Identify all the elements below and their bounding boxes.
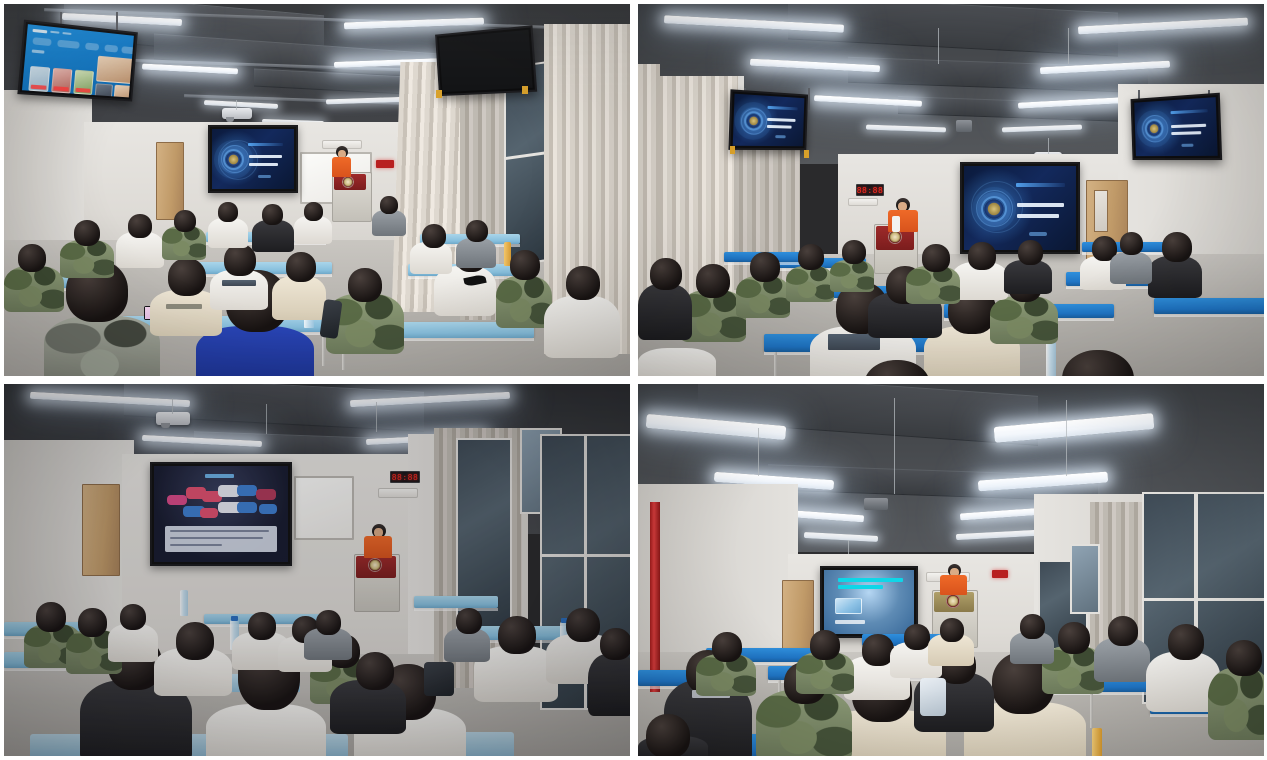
audience-head — [456, 608, 482, 634]
audience-head — [696, 264, 730, 298]
audience-head — [422, 224, 446, 248]
audience-head — [750, 252, 780, 282]
audience-member — [638, 348, 716, 376]
photo-panel-top-left[interactable]: Lecture hall, students seated at pale-bl… — [4, 4, 630, 376]
led-clock-text: 88:88 — [392, 473, 419, 482]
audience-head — [922, 244, 950, 272]
led-clock-text: 88:88 — [857, 186, 884, 195]
audience-member — [1004, 260, 1052, 294]
photo-panel-bottom-right[interactable]: Wide lecture hall with blue desks and wi… — [638, 384, 1264, 756]
photo-collage: Lecture hall, students seated at pale-bl… — [0, 0, 1267, 760]
presenter-vest — [332, 157, 351, 177]
tv-screen — [439, 30, 533, 92]
tv-feature-card[interactable] — [96, 56, 134, 84]
projection-screen — [208, 125, 298, 193]
audience-head — [1058, 622, 1090, 654]
door-window — [1094, 190, 1108, 232]
classroom-scene-2: 88:88 — [638, 4, 1264, 376]
light-wire — [376, 402, 377, 432]
audience-head — [510, 250, 540, 280]
water-bottle — [180, 590, 188, 616]
light-wire — [1066, 400, 1067, 476]
photo-panel-top-right[interactable]: 88:88 — [638, 4, 1264, 376]
tv-slide-line — [767, 118, 796, 122]
projection-screen — [150, 462, 292, 566]
side-tv-left[interactable] — [728, 89, 808, 150]
shirt-print — [166, 304, 202, 309]
audience-head — [1020, 614, 1045, 639]
audience-head — [566, 266, 600, 300]
audience-head — [348, 268, 382, 302]
student-desk — [414, 596, 498, 608]
student-desk — [1154, 298, 1264, 314]
presenter-vest — [364, 536, 392, 558]
podium-emblem-icon — [946, 594, 960, 608]
slide-text-line — [249, 155, 282, 158]
podium-emblem-icon — [342, 176, 354, 188]
caption-line — [170, 544, 222, 546]
tv-ui-tab[interactable] — [32, 37, 51, 46]
audience-head — [262, 204, 283, 225]
light-wire — [758, 428, 759, 476]
projector-wire — [236, 100, 237, 110]
slide-ring — [218, 140, 258, 180]
audience-member — [638, 284, 692, 340]
audience-member — [1110, 252, 1152, 284]
audience-member — [830, 260, 874, 292]
audience-head — [466, 220, 488, 242]
backpack — [424, 662, 454, 696]
audience-head — [1108, 616, 1138, 646]
audience-head — [798, 244, 824, 270]
tv-screen — [22, 24, 134, 97]
led-clock-icon: 88:88 — [856, 184, 884, 196]
water-bottle — [1046, 342, 1056, 376]
bottle-cap — [231, 616, 238, 621]
slide-title — [964, 166, 1076, 250]
tv-slide-line — [767, 125, 792, 129]
audience-member — [206, 704, 326, 756]
mindmap-node — [259, 504, 277, 514]
tv-slide-line — [1171, 123, 1206, 127]
tv-poster-card[interactable] — [94, 83, 112, 97]
audience-head — [1120, 232, 1143, 255]
audience-head — [810, 630, 840, 660]
tv-poster-card[interactable] — [114, 85, 132, 98]
wall-panel — [848, 198, 878, 206]
tv-slide-pill — [1181, 143, 1194, 146]
mindmap-node — [167, 495, 187, 505]
audience-head — [304, 202, 323, 221]
audience-member — [786, 266, 834, 302]
photo-panel-bottom-left[interactable]: 88:88 — [4, 384, 630, 756]
audience-head — [74, 220, 100, 246]
audience-head — [566, 608, 600, 642]
shirt-print — [222, 280, 256, 286]
audience-head — [36, 602, 66, 632]
mindmap-caption-block — [165, 526, 278, 553]
audience-head — [176, 622, 214, 660]
tv-bracket — [730, 146, 735, 154]
audience-member — [544, 296, 620, 358]
tv-slide-ring — [1142, 114, 1169, 142]
projector-icon — [222, 108, 252, 119]
audience-member — [1208, 668, 1264, 740]
whiteboard — [294, 476, 354, 540]
slide-footer-bar — [835, 620, 866, 624]
projector-wire — [172, 398, 173, 414]
audience-head — [218, 202, 238, 222]
slide-heading-line — [838, 585, 883, 589]
slide-footer-pill — [1029, 232, 1047, 236]
tv-slide-line — [1171, 132, 1201, 136]
podium-emblem-icon — [368, 558, 382, 572]
slide-content — [824, 570, 914, 634]
slide-title — [205, 474, 234, 478]
tv-mount — [808, 88, 810, 110]
card-badge — [53, 86, 68, 91]
light-wire — [1068, 28, 1069, 64]
window-mullion — [1142, 598, 1264, 601]
classroom-scene-3: 88:88 — [4, 384, 630, 756]
audience-head — [1018, 240, 1043, 265]
tv-ui-label — [32, 49, 45, 53]
caption-line — [170, 537, 262, 539]
audience-member — [210, 270, 268, 310]
tv-slide-heading — [768, 106, 798, 110]
classroom-door[interactable] — [82, 484, 120, 576]
audience-head — [940, 618, 964, 642]
tv-ui-tab[interactable] — [121, 46, 134, 54]
tv-slide-pill — [775, 135, 785, 138]
slide-thumbnail — [835, 598, 862, 613]
card-badge — [75, 88, 90, 93]
light-wire — [894, 398, 895, 494]
tv-poster-card[interactable] — [51, 68, 72, 94]
mindmap-node — [237, 502, 257, 513]
slide-footer-pill — [258, 175, 271, 178]
tv-ui-item — [50, 31, 59, 34]
slide-text-line — [249, 163, 279, 166]
ceiling-speaker-icon — [864, 498, 888, 510]
classroom-scene-4: Wide lecture hall with blue desks and wi… — [638, 384, 1264, 756]
audience-head — [646, 714, 690, 756]
side-tv-right[interactable] — [1131, 93, 1223, 160]
desk-leg — [1090, 692, 1093, 728]
audience-head — [650, 258, 682, 290]
tv-slide-heading — [1170, 109, 1207, 114]
audience-head — [286, 252, 316, 282]
slide-heading-bar — [1016, 183, 1065, 187]
audience-head — [600, 628, 630, 660]
audience-member — [1148, 256, 1202, 298]
audience-member — [208, 218, 248, 248]
audience-head — [174, 210, 196, 232]
tv-slide-ring — [741, 107, 768, 134]
audience-head — [842, 240, 866, 264]
audience-head — [1226, 640, 1262, 676]
exit-sign-icon — [376, 160, 394, 168]
audience-head — [712, 632, 742, 662]
audience-member — [272, 276, 326, 320]
slide-ring — [971, 181, 1023, 233]
caption-line — [170, 530, 269, 532]
classroom-door[interactable] — [156, 142, 184, 220]
audience-head — [78, 608, 107, 637]
audience-member — [4, 266, 64, 312]
wall-tv-media[interactable] — [17, 20, 138, 102]
tv-poster-card[interactable] — [73, 70, 94, 95]
audience-head — [1162, 232, 1192, 262]
audience-head — [120, 604, 146, 630]
slide-text-line — [1017, 203, 1064, 207]
presenter-vest — [940, 575, 967, 595]
tv-ui-item — [62, 32, 71, 35]
audience-head — [380, 196, 398, 214]
standpipe — [650, 502, 660, 692]
projection-screen — [960, 162, 1080, 254]
audience-member — [736, 276, 790, 318]
projector-wire — [1048, 138, 1049, 154]
audience-head — [316, 610, 341, 635]
tv-ui-tab[interactable] — [85, 42, 99, 50]
audience-head — [168, 258, 206, 296]
podium-emblem-icon — [888, 230, 902, 244]
tv-poster-card[interactable] — [28, 66, 50, 92]
tv-ui-logo — [32, 29, 47, 34]
drawstring-bag — [920, 678, 946, 716]
audience-head — [904, 624, 930, 650]
audience-member — [44, 316, 160, 376]
tv-screen — [1134, 97, 1218, 156]
window — [1070, 544, 1100, 614]
slide-heading-line — [838, 578, 903, 582]
slide-text-line — [1017, 214, 1060, 218]
air-conditioner — [378, 488, 418, 498]
ceiling-speaker-icon — [956, 120, 972, 132]
tv-ui-tab[interactable] — [104, 44, 118, 52]
audience-head — [128, 214, 152, 238]
tv-screen — [733, 94, 805, 147]
mindmap-node — [256, 489, 276, 500]
tv-bracket — [522, 86, 528, 94]
audience-head — [1168, 624, 1204, 660]
slide-heading-bar — [248, 143, 282, 146]
audience-head — [498, 616, 536, 654]
mindmap-node — [200, 508, 218, 518]
classroom-scene-1: Lecture hall, students seated at pale-bl… — [4, 4, 630, 376]
audience-head — [18, 244, 46, 272]
exit-sign-icon — [992, 570, 1008, 578]
tv-bracket — [436, 90, 442, 98]
audience-member — [990, 296, 1058, 344]
tv-bracket — [804, 150, 809, 158]
projector-icon — [156, 412, 190, 425]
slide-mindmap — [154, 466, 288, 562]
audience-member — [588, 654, 630, 716]
tv-ui-tab[interactable] — [57, 40, 80, 49]
mindmap-node — [237, 485, 257, 496]
slide-title — [212, 129, 294, 189]
light-wire — [266, 404, 267, 434]
audience-head — [248, 612, 276, 640]
audience-head — [968, 242, 996, 270]
audience-head — [356, 652, 394, 690]
desk-leg — [774, 352, 777, 376]
led-clock-icon: 88:88 — [390, 471, 420, 483]
drink-bottle — [1092, 728, 1102, 756]
card-badge — [31, 85, 47, 90]
light-wire — [938, 28, 939, 64]
presenter-shirt — [892, 216, 900, 232]
audience-member — [456, 238, 496, 268]
projection-screen — [820, 566, 918, 638]
